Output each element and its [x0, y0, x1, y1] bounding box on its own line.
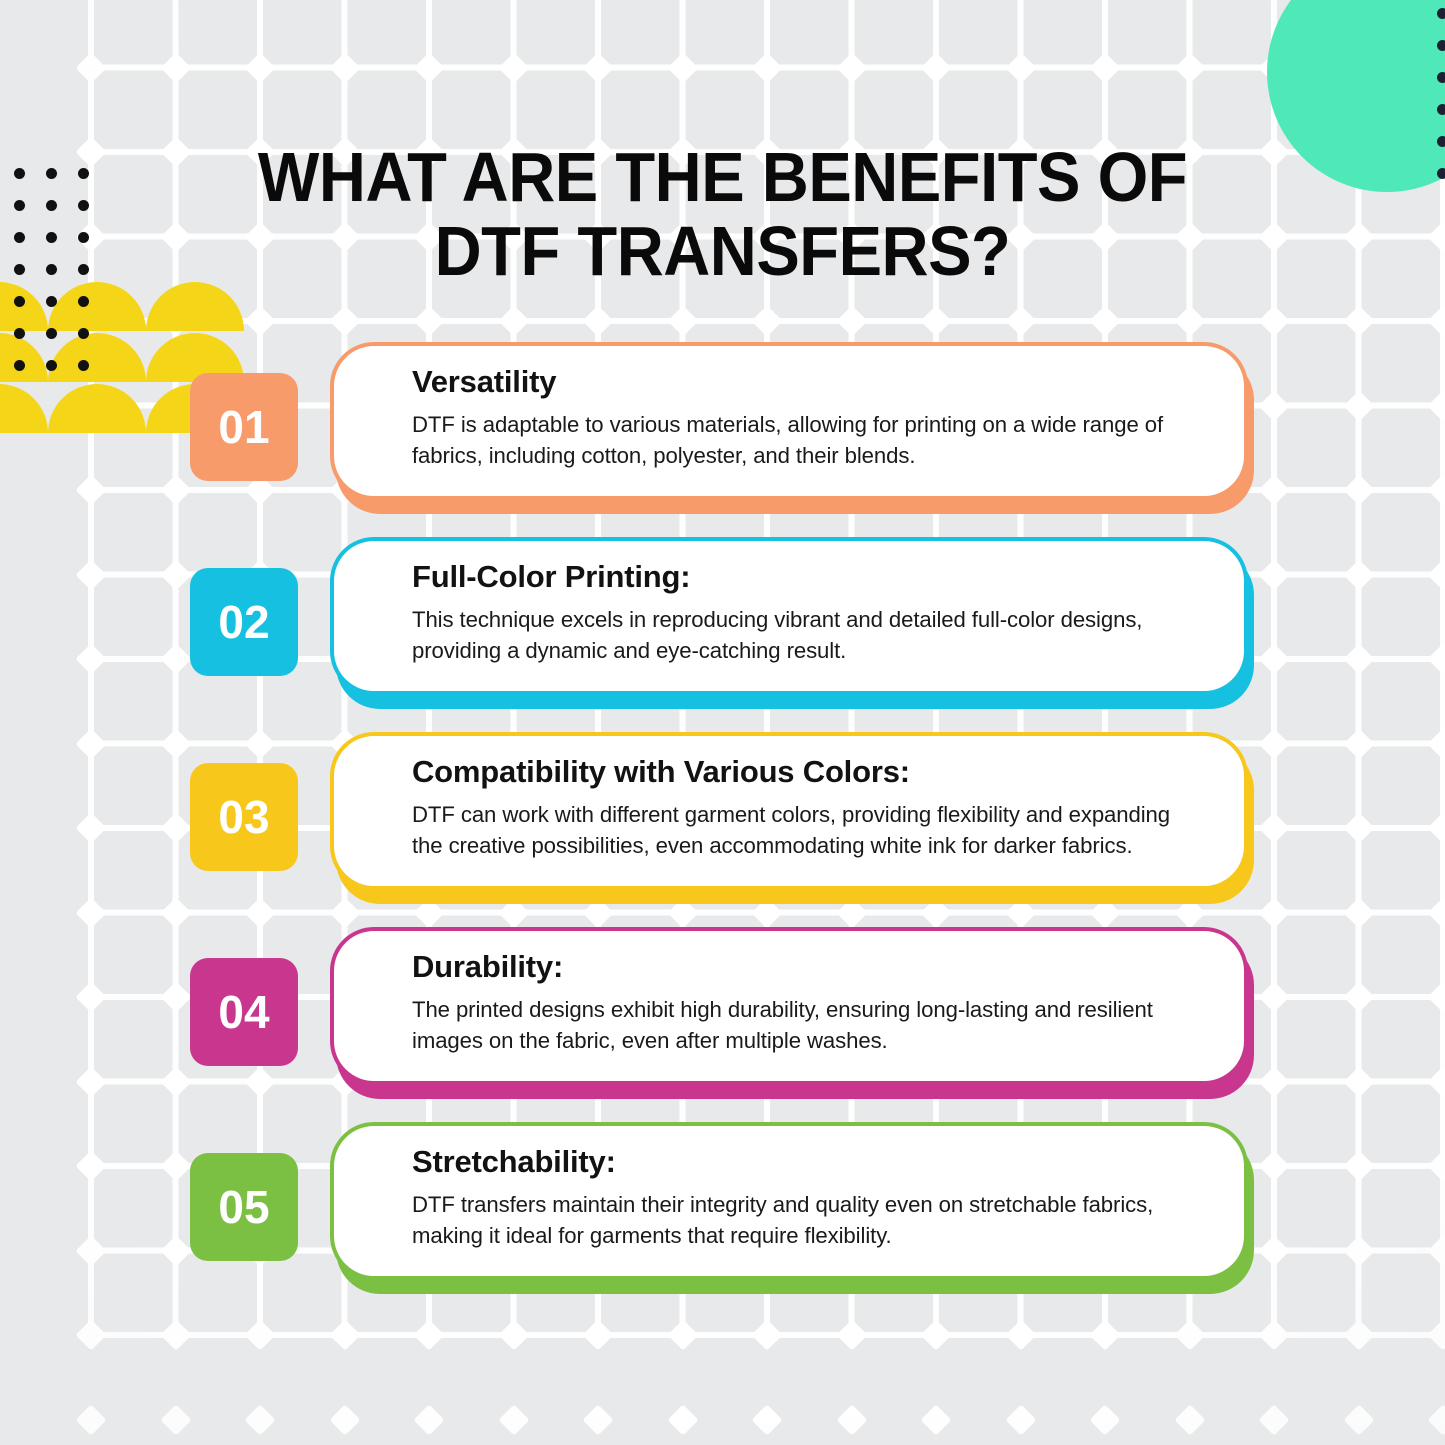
decorative-dot — [1437, 168, 1445, 179]
grid-diamond — [498, 1319, 529, 1350]
grid-diamond — [920, 1404, 951, 1435]
grid-diamond — [244, 305, 275, 336]
grid-diamond — [75, 136, 106, 167]
card-title: Full-Color Printing: — [412, 560, 1204, 594]
grid-diamond — [582, 52, 613, 83]
grid-diamond — [1343, 1319, 1374, 1350]
grid-diamond — [329, 52, 360, 83]
card-number-badge: 04 — [190, 958, 298, 1066]
grid-diamond — [836, 305, 867, 336]
grid-diamond — [1089, 52, 1120, 83]
grid-diamond — [1089, 1404, 1120, 1435]
card-body-text: The printed designs exhibit high durabil… — [412, 995, 1192, 1056]
grid-diamond — [1174, 305, 1205, 336]
mint-circle-decoration — [1267, 0, 1445, 192]
semicircle-shape — [0, 282, 48, 331]
card-title: Durability: — [412, 950, 1204, 984]
grid-diamond — [836, 1319, 867, 1350]
grid-diamond — [751, 305, 782, 336]
grid-diamond — [836, 52, 867, 83]
grid-diamond — [751, 52, 782, 83]
semicircle-shape — [48, 282, 146, 331]
grid-diamond — [160, 1404, 191, 1435]
benefit-card: Durability:The printed designs exhibit h… — [0, 925, 1445, 1098]
decorative-dot — [78, 264, 89, 275]
decorative-dot — [46, 168, 57, 179]
grid-diamond — [498, 1404, 529, 1435]
grid-diamond — [667, 1404, 698, 1435]
grid-diamond — [836, 1404, 867, 1435]
decorative-dot — [14, 168, 25, 179]
card-panel: Compatibility with Various Colors:DTF ca… — [330, 732, 1248, 890]
card-body-text: DTF is adaptable to various materials, a… — [412, 410, 1192, 471]
decorative-dot — [1437, 136, 1445, 147]
decorative-dot — [14, 232, 25, 243]
card-number-label: 03 — [218, 790, 269, 844]
decorative-dot — [14, 200, 25, 211]
grid-diamond — [1005, 1404, 1036, 1435]
grid-diamond — [667, 305, 698, 336]
grid-diamond — [1174, 1319, 1205, 1350]
grid-diamond — [1005, 52, 1036, 83]
infographic-canvas: WHAT ARE THE BENEFITS OF DTF TRANSFERS? … — [0, 0, 1445, 1445]
grid-diamond — [582, 1404, 613, 1435]
card-number-label: 01 — [218, 400, 269, 454]
decorative-dot — [46, 200, 57, 211]
grid-diamond — [751, 1319, 782, 1350]
card-number-badge: 05 — [190, 1153, 298, 1261]
benefits-list: VersatilityDTF is adaptable to various m… — [0, 340, 1445, 1315]
decorative-dot — [14, 264, 25, 275]
grid-diamond — [751, 1404, 782, 1435]
decorative-dot — [78, 296, 89, 307]
grid-diamond — [160, 221, 191, 252]
grid-diamond — [1258, 1404, 1289, 1435]
grid-diamond — [1258, 221, 1289, 252]
card-title: Compatibility with Various Colors: — [412, 755, 1204, 789]
grid-diamond — [244, 1404, 275, 1435]
card-body-text: DTF can work with different garment colo… — [412, 800, 1192, 861]
grid-diamond — [75, 1404, 106, 1435]
grid-diamond — [498, 305, 529, 336]
benefit-card: Full-Color Printing:This technique excel… — [0, 535, 1445, 708]
card-number-badge: 01 — [190, 373, 298, 481]
grid-diamond — [920, 305, 951, 336]
decorative-dot — [78, 168, 89, 179]
grid-diamond — [1005, 305, 1036, 336]
semicircle-shape — [146, 282, 244, 331]
grid-diamond — [329, 1404, 360, 1435]
card-number-label: 05 — [218, 1180, 269, 1234]
grid-diamond — [329, 305, 360, 336]
benefit-card: VersatilityDTF is adaptable to various m… — [0, 340, 1445, 513]
grid-diamond — [1174, 52, 1205, 83]
grid-diamond — [160, 136, 191, 167]
grid-diamond — [1258, 136, 1289, 167]
card-body-text: DTF transfers maintain their integrity a… — [412, 1190, 1192, 1251]
grid-diamond — [1343, 221, 1374, 252]
grid-diamond — [75, 52, 106, 83]
decorative-dot — [1437, 72, 1445, 83]
grid-diamond — [920, 52, 951, 83]
grid-diamond — [920, 1319, 951, 1350]
decorative-dot — [1437, 8, 1445, 19]
card-title: Versatility — [412, 365, 1204, 399]
grid-diamond — [329, 1319, 360, 1350]
decorative-dot — [1437, 40, 1445, 51]
grid-diamond — [1427, 1404, 1445, 1435]
decorative-dot — [78, 328, 89, 339]
grid-diamond — [1343, 305, 1374, 336]
decorative-dot — [1437, 104, 1445, 115]
decorative-dot — [46, 328, 57, 339]
grid-diamond — [1343, 1404, 1374, 1435]
grid-diamond — [413, 1319, 444, 1350]
decorative-dot — [46, 232, 57, 243]
grid-diamond — [667, 52, 698, 83]
grid-diamond — [413, 1404, 444, 1435]
grid-diamond — [1427, 221, 1445, 252]
card-panel: Durability:The printed designs exhibit h… — [330, 927, 1248, 1085]
grid-diamond — [1258, 305, 1289, 336]
page-title: WHAT ARE THE BENEFITS OF DTF TRANSFERS? — [213, 140, 1231, 288]
card-panel: Full-Color Printing:This technique excel… — [330, 537, 1248, 695]
grid-diamond — [582, 1319, 613, 1350]
card-number-badge: 02 — [190, 568, 298, 676]
grid-diamond — [1427, 1319, 1445, 1350]
grid-diamond — [582, 305, 613, 336]
decorative-dot — [46, 264, 57, 275]
decorative-dot — [46, 296, 57, 307]
card-panel: Stretchability:DTF transfers maintain th… — [330, 1122, 1248, 1280]
card-body-text: This technique excels in reproducing vib… — [412, 605, 1192, 666]
decorative-dot — [14, 328, 25, 339]
grid-diamond — [1089, 305, 1120, 336]
grid-diamond — [667, 1319, 698, 1350]
grid-diamond — [160, 52, 191, 83]
grid-diamond — [160, 1319, 191, 1350]
grid-diamond — [1258, 1319, 1289, 1350]
grid-diamond — [1089, 1319, 1120, 1350]
grid-diamond — [413, 305, 444, 336]
grid-diamond — [1174, 1404, 1205, 1435]
decorative-dot — [78, 200, 89, 211]
grid-diamond — [413, 52, 444, 83]
grid-diamond — [1005, 1319, 1036, 1350]
card-number-badge: 03 — [190, 763, 298, 871]
card-panel: VersatilityDTF is adaptable to various m… — [330, 342, 1248, 500]
grid-diamond — [244, 52, 275, 83]
card-number-label: 04 — [218, 985, 269, 1039]
benefit-card: Stretchability:DTF transfers maintain th… — [0, 1120, 1445, 1293]
decorative-dot — [14, 296, 25, 307]
decorative-dot — [78, 232, 89, 243]
grid-diamond — [244, 1319, 275, 1350]
grid-diamond — [498, 52, 529, 83]
grid-diamond — [1427, 305, 1445, 336]
grid-diamond — [75, 1319, 106, 1350]
benefit-card: Compatibility with Various Colors:DTF ca… — [0, 730, 1445, 903]
card-number-label: 02 — [218, 595, 269, 649]
card-title: Stretchability: — [412, 1145, 1204, 1179]
